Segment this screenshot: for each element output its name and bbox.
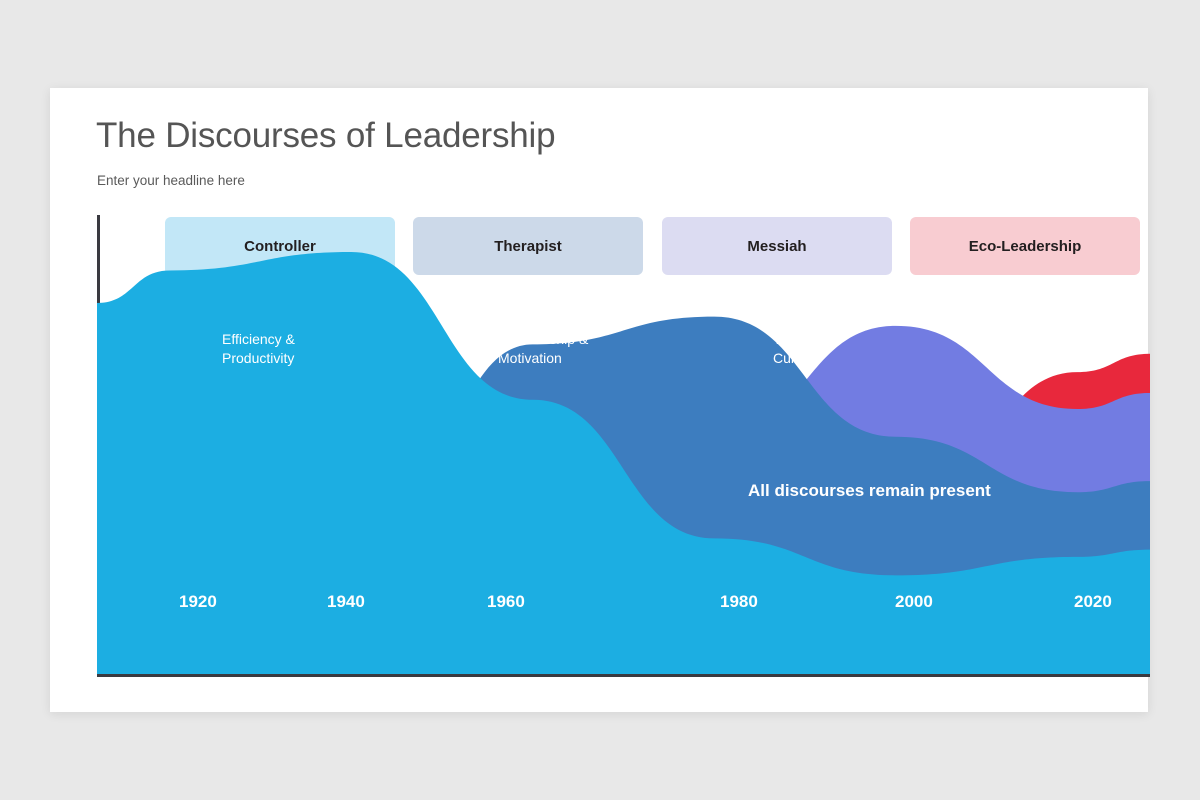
year-label-1980: 1980 — [720, 592, 758, 612]
year-label-1940: 1940 — [327, 592, 365, 612]
discourse-area-chart: Efficiency & ProductivityRelationship & … — [97, 215, 1150, 677]
year-label-2020: 2020 — [1074, 592, 1112, 612]
year-label-2000: 2000 — [895, 592, 933, 612]
slide-canvas: The Discourses of Leadership Enter your … — [50, 88, 1148, 712]
year-label-1920: 1920 — [179, 592, 217, 612]
page-title: The Discourses of Leadership — [96, 116, 555, 156]
x-axis-line — [97, 674, 1150, 677]
all-discourses-note: All discourses remain present — [748, 481, 991, 501]
year-label-1960: 1960 — [487, 592, 525, 612]
wave-layers — [97, 215, 1150, 677]
page-subtitle: Enter your headline here — [97, 173, 245, 188]
